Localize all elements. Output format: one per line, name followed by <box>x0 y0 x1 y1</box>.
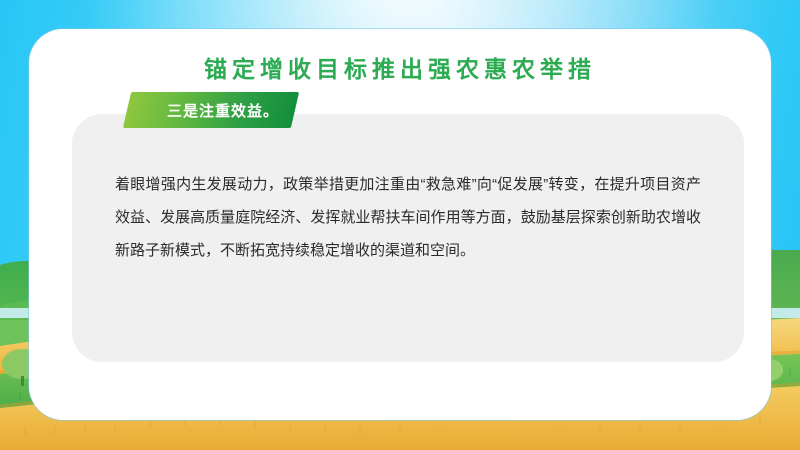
slide-canvas: 锚定增收目标推出强农惠农举措 着眼增强内生发展动力，政策举措更加注重由“救急难”… <box>0 0 800 450</box>
page-title: 锚定增收目标推出强农惠农举措 <box>29 50 771 84</box>
body-paragraph: 着眼增强内生发展动力，政策举措更加注重由“救急难”向“促发展”转变，在提升项目资… <box>115 168 701 267</box>
content-card: 锚定增收目标推出强农惠农举措 着眼增强内生发展动力，政策举措更加注重由“救急难”… <box>29 29 771 420</box>
content-panel: 着眼增强内生发展动力，政策举措更加注重由“救急难”向“促发展”转变，在提升项目资… <box>72 114 744 362</box>
section-tag-label: 三是注重效益。 <box>139 92 307 128</box>
